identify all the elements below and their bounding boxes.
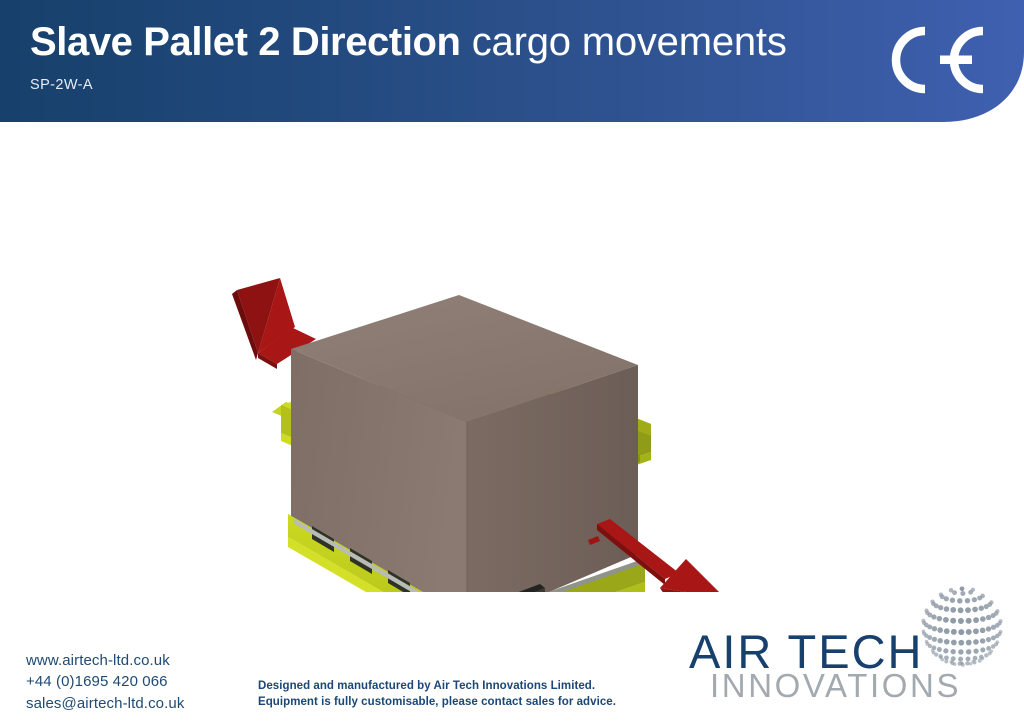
- page-title-light: cargo movements: [472, 20, 787, 64]
- disclaimer-text: Designed and manufactured by Air Tech In…: [258, 678, 616, 711]
- disclaimer-line-1: Designed and manufactured by Air Tech In…: [258, 678, 616, 694]
- logo-subword: INNOVATIONS: [710, 667, 961, 705]
- product-illustration: [0, 122, 1024, 592]
- model-code: SP-2W-A: [30, 77, 930, 93]
- page-title: Slave Pallet 2 Direction cargo movements: [30, 22, 930, 62]
- header-banner: Slave Pallet 2 Direction cargo movements…: [0, 0, 1024, 122]
- contact-phone[interactable]: +44 (0)1695 420 066: [26, 671, 184, 692]
- contact-info: www.airtech-ltd.co.uk +44 (0)1695 420 06…: [26, 650, 184, 714]
- contact-email[interactable]: sales@airtech-ltd.co.uk: [26, 693, 184, 714]
- globe-icon: [918, 582, 1006, 670]
- slave-pallet-3d-render: [0, 122, 1024, 592]
- contact-website[interactable]: www.airtech-ltd.co.uk: [26, 650, 184, 671]
- page-title-strong: Slave Pallet 2 Direction: [30, 20, 461, 64]
- company-logo: AIR TECH INNOVATIONS: [676, 582, 1006, 707]
- disclaimer-line-2: Equipment is fully customisable, please …: [258, 694, 616, 710]
- ce-mark-icon: [878, 25, 990, 95]
- header-text-block: Slave Pallet 2 Direction cargo movements…: [30, 22, 930, 93]
